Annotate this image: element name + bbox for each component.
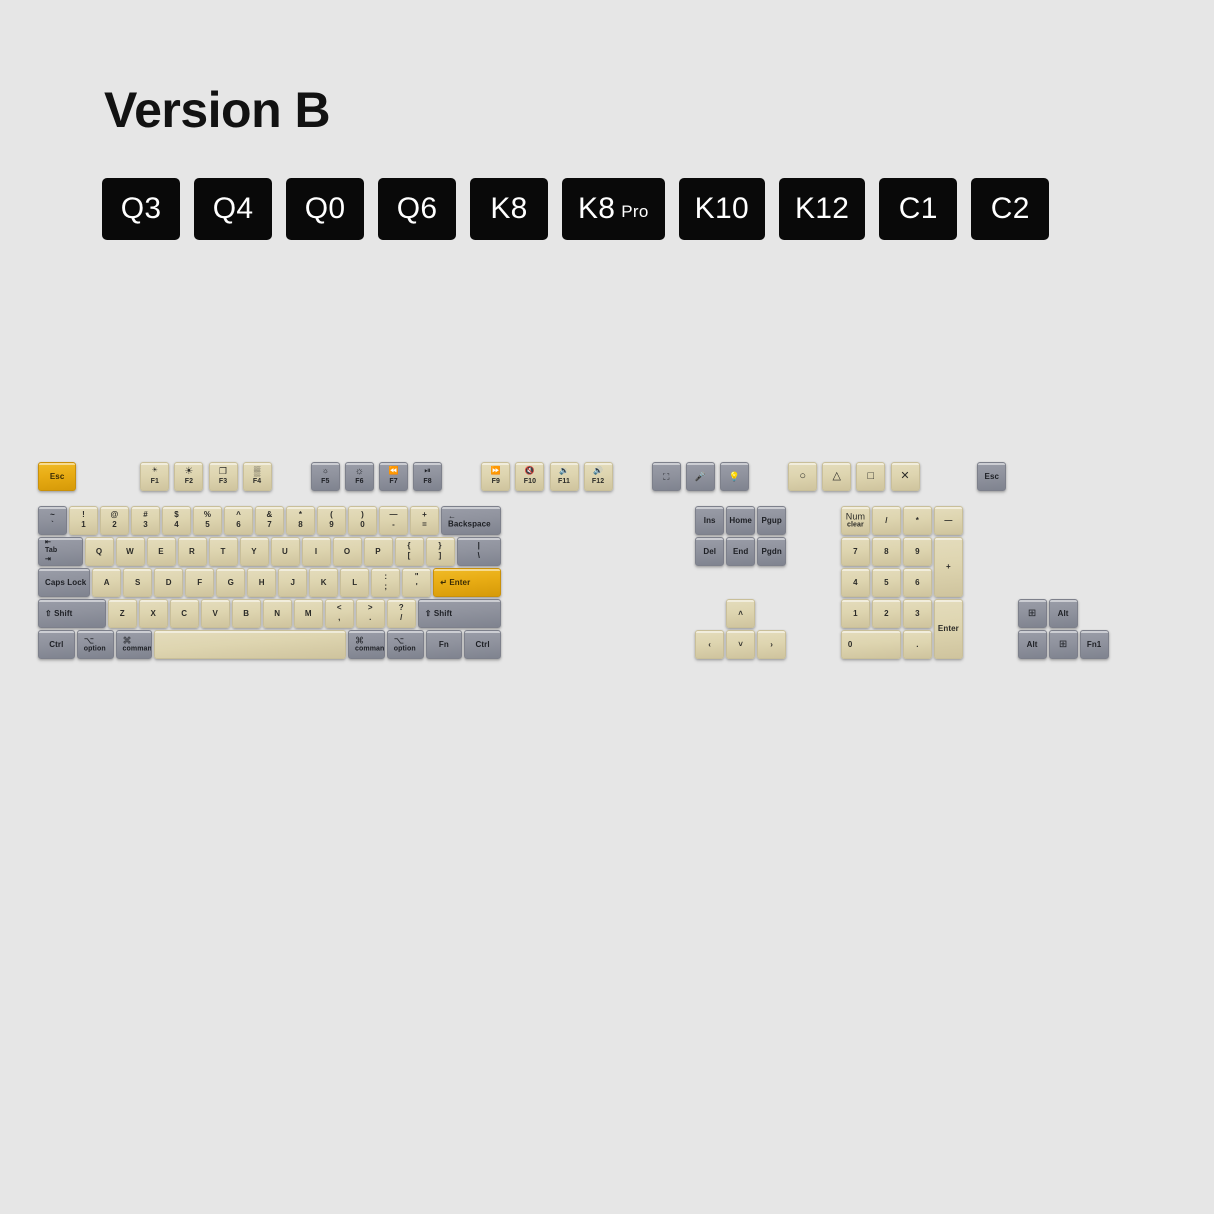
keycap-numpad-3-legend: 3 (904, 609, 931, 617)
keycap-end-legend: End (727, 547, 754, 555)
keycap-numpad-9-legend: 9 (904, 547, 931, 555)
keycap-numpad-enter-legend: Enter (935, 625, 962, 633)
keycap-equal[interactable]: += (410, 506, 439, 535)
keycap-win-right-bottom[interactable]: ⊞ (1049, 630, 1078, 659)
keycap-key-e-legend: E (148, 547, 175, 555)
keycap-f8-legend-fkey: F8 (414, 478, 441, 485)
keycap-tab[interactable]: ⇤Tab⇥ (38, 537, 83, 566)
keycap-key-g[interactable]: G (216, 568, 245, 597)
keycap-command-right-legend: ⌘command (349, 636, 384, 653)
keycap-key-v[interactable]: V (201, 599, 230, 628)
keycap-f1[interactable]: ☀F1 (140, 462, 169, 491)
keycap-digit-5-legend-base: 5 (194, 521, 221, 529)
keycap-key-x[interactable]: X (139, 599, 168, 628)
keycap-enter[interactable]: ↵ Enter (433, 568, 501, 597)
keycap-tab-legend: ⇤Tab⇥ (39, 538, 82, 564)
keycap-key-q-legend: Q (86, 547, 113, 555)
keycap-key-m[interactable]: M (294, 599, 323, 628)
keycap-slash[interactable]: ?/ (387, 599, 416, 628)
keycap-bracket-left-legend-base: [ (396, 552, 423, 560)
keycap-key-n[interactable]: N (263, 599, 292, 628)
keycap-comma-legend-base: , (326, 614, 353, 622)
keycap-key-t-legend: T (210, 547, 237, 555)
keycap-digit-4-legend-base: 4 (163, 521, 190, 529)
keycap-backslash-legend-base: \ (458, 552, 501, 560)
keycap-digit-8[interactable]: *8 (286, 506, 315, 535)
keycap-arrow-down-legend: ˅ (727, 640, 754, 648)
keycap-set-layout: Esc☀F1☀F2❐F3▒F4☼F5☼F6⏪F7⏯F8⏩F9🔇F10🔉F11🔊F… (0, 0, 1214, 1214)
keycap-digit-3-legend-base: 3 (132, 521, 159, 529)
keycap-key-o-legend: O (334, 547, 361, 555)
keycap-key-w[interactable]: W (116, 537, 145, 566)
keycap-arrow-down[interactable]: ˅ (726, 630, 755, 659)
keycap-ctrl-right-legend: Ctrl (465, 640, 500, 648)
keycap-f4-legend-fkey: F4 (244, 478, 271, 485)
keycap-f12-legend-fkey: F12 (585, 478, 612, 485)
keycap-f8-legend-icon: ⏯ (414, 467, 441, 475)
keycap-digit-4[interactable]: $4 (162, 506, 191, 535)
keycap-num-clear[interactable]: Numclear (841, 506, 870, 535)
keycap-numpad-9[interactable]: 9 (903, 537, 932, 566)
keycap-f7-legend-fkey: F7 (380, 478, 407, 485)
keycap-circle[interactable]: ○ (788, 462, 817, 491)
keycap-key-y[interactable]: Y (240, 537, 269, 566)
keycap-command-left-legend-line2: command (123, 646, 152, 653)
keycap-f9-legend-fkey: F9 (482, 478, 509, 485)
keycap-num-clear-legend-line1: Num (842, 512, 869, 521)
keycap-space[interactable] (154, 630, 346, 659)
keycap-fn1[interactable]: Fn1 (1080, 630, 1109, 659)
keycap-arrow-up-legend: ˄ (727, 609, 754, 617)
keycap-key-q[interactable]: Q (85, 537, 114, 566)
keycap-key-h[interactable]: H (247, 568, 276, 597)
keycap-key-y-legend: Y (241, 547, 268, 555)
keycap-insert[interactable]: Ins (695, 506, 724, 535)
keycap-win-left-top-legend-icon: ⊞ (1019, 608, 1046, 619)
keycap-arrow-right-legend: › (758, 640, 785, 648)
keycap-key-i-legend: I (303, 547, 330, 555)
keycap-arrow-right[interactable]: › (757, 630, 786, 659)
keycap-key-r-legend: R (179, 547, 206, 555)
keycap-digit-0-legend-shifted: ) (349, 511, 376, 519)
keycap-f1-legend-fkey: F1 (141, 478, 168, 485)
keycap-f6-legend-fkey: F6 (346, 478, 373, 485)
keycap-pagedown-legend: Pgdn (758, 547, 785, 555)
keycap-digit-7-legend-shifted: & (256, 511, 283, 519)
keycap-numpad-7-legend: 7 (842, 547, 869, 555)
keycap-key-j-legend: J (279, 578, 306, 586)
keycap-enter-legend: ↵ Enter (434, 578, 500, 586)
keycap-digit-0[interactable]: )0 (348, 506, 377, 535)
keycap-key-z[interactable]: Z (108, 599, 137, 628)
keycap-f12[interactable]: 🔊F12 (584, 462, 613, 491)
keycap-numpad-8[interactable]: 8 (872, 537, 901, 566)
keycap-key-w-legend: W (117, 547, 144, 555)
keycap-digit-9-legend-shifted: ( (318, 511, 345, 519)
keycap-comma-legend-shifted: < (326, 604, 353, 612)
keycap-f11[interactable]: 🔉F11 (550, 462, 579, 491)
keycap-digit-6[interactable]: ^6 (224, 506, 253, 535)
keycap-digit-6-legend-base: 6 (225, 521, 252, 529)
keycap-f2-legend-fkey: F2 (175, 478, 202, 485)
keycap-command-right[interactable]: ⌘command (348, 630, 385, 659)
keycap-key-e[interactable]: E (147, 537, 176, 566)
keycap-key-l-legend: L (341, 578, 368, 586)
keycap-backspace[interactable]: ← Backspace (441, 506, 501, 535)
keycap-key-p[interactable]: P (364, 537, 393, 566)
keycap-minus-legend-shifted: — (380, 511, 407, 519)
keycap-digit-9-legend-base: 9 (318, 521, 345, 529)
keycap-f10[interactable]: 🔇F10 (515, 462, 544, 491)
keycap-option-right-legend: ⌥option (388, 636, 423, 653)
keycap-end[interactable]: End (726, 537, 755, 566)
keycap-digit-5-legend-shifted: % (194, 511, 221, 519)
keycap-bracket-right-legend-base: ] (427, 552, 454, 560)
keycap-equal-legend-shifted: + (411, 511, 438, 519)
keycap-f3-legend-icon: ❐ (210, 467, 237, 476)
keycap-f3[interactable]: ❐F3 (209, 462, 238, 491)
keycap-digit-7[interactable]: &7 (255, 506, 284, 535)
keycap-bracket-right-legend-shifted: } (427, 542, 454, 550)
keycap-esc-gray-legend: Esc (978, 472, 1005, 480)
keycap-f11-legend-icon: 🔉 (551, 467, 578, 475)
keycap-shift-left-legend: ⇧ Shift (39, 609, 105, 617)
keycap-numpad-2-legend: 2 (873, 609, 900, 617)
keycap-backlight[interactable]: 💡 (720, 462, 749, 491)
keycap-f12-legend-icon: 🔊 (585, 467, 612, 475)
keycap-ctrl-left-legend: Ctrl (39, 640, 74, 648)
keycap-key-j[interactable]: J (278, 568, 307, 597)
keycap-screenshot-legend-icon: ⛶ (653, 472, 680, 481)
keycap-f11-legend-fkey: F11 (551, 478, 578, 485)
keycap-arrow-left-legend: ‹ (696, 640, 723, 648)
keycap-semicolon[interactable]: :; (371, 568, 400, 597)
keycap-digit-1-legend-base: 1 (70, 521, 97, 529)
keycap-command-right-legend-line1: ⌘ (355, 636, 384, 645)
keycap-win-right-bottom-legend-icon: ⊞ (1050, 639, 1077, 650)
keycap-shift-right-legend: ⇧ Shift (419, 609, 500, 617)
keycap-option-right[interactable]: ⌥option (387, 630, 424, 659)
keycap-key-g-legend: G (217, 578, 244, 586)
keycap-triangle[interactable]: △ (822, 462, 851, 491)
keycap-key-v-legend: V (202, 609, 229, 617)
keycap-tab-legend-line3: ⇥ (45, 556, 82, 565)
keycap-digit-3[interactable]: #3 (131, 506, 160, 535)
keycap-period[interactable]: >. (356, 599, 385, 628)
keycap-key-c[interactable]: C (170, 599, 199, 628)
keycap-arrow-left[interactable]: ‹ (695, 630, 724, 659)
keycap-digit-1[interactable]: !1 (69, 506, 98, 535)
keycap-f4-legend-icon: ▒ (244, 467, 271, 476)
keycap-grave-legend-base: ` (39, 521, 66, 529)
keycap-numpad-divide-legend: / (873, 516, 900, 524)
keycap-key-t[interactable]: T (209, 537, 238, 566)
keycap-numpad-7[interactable]: 7 (841, 537, 870, 566)
keycap-tab-legend-line1: ⇤ (45, 538, 82, 547)
keycap-f9-legend-icon: ⏩ (482, 467, 509, 475)
keycap-semicolon-legend-base: ; (372, 583, 399, 591)
keycap-backlight-legend-icon: 💡 (721, 472, 748, 481)
keycap-numpad-5[interactable]: 5 (872, 568, 901, 597)
keycap-square[interactable]: □ (856, 462, 885, 491)
keycap-bracket-right[interactable]: }] (426, 537, 455, 566)
keycap-cross-legend-icon: ✕ (892, 471, 919, 483)
keycap-backspace-legend: ← Backspace (442, 512, 500, 529)
keycap-cross[interactable]: ✕ (891, 462, 920, 491)
keycap-key-l[interactable]: L (340, 568, 369, 597)
keycap-numpad-multiply[interactable]: * (903, 506, 932, 535)
keycap-numpad-6[interactable]: 6 (903, 568, 932, 597)
keycap-digit-7-legend-base: 7 (256, 521, 283, 529)
keycap-numpad-multiply-legend: * (904, 516, 931, 524)
keycap-grave[interactable]: ~` (38, 506, 67, 535)
keycap-numpad-period[interactable]: . (903, 630, 932, 659)
keycap-pageup[interactable]: Pgup (757, 506, 786, 535)
keycap-key-b[interactable]: B (232, 599, 261, 628)
keycap-f7[interactable]: ⏪F7 (379, 462, 408, 491)
keycap-circle-legend-icon: ○ (789, 471, 816, 483)
keycap-bracket-left[interactable]: {[ (395, 537, 424, 566)
keycap-slash-legend-base: / (388, 614, 415, 622)
keycap-delete-legend: Del (696, 547, 723, 555)
keycap-f10-legend-fkey: F10 (516, 478, 543, 485)
keycap-esc[interactable]: Esc (38, 462, 76, 491)
keycap-digit-9[interactable]: (9 (317, 506, 346, 535)
keycap-alt-right-top-legend: Alt (1050, 609, 1077, 617)
keycap-key-b-legend: B (233, 609, 260, 617)
keycap-key-a-legend: A (93, 578, 120, 586)
keycap-square-legend-icon: □ (857, 471, 884, 483)
keycap-key-a[interactable]: A (92, 568, 121, 597)
keycap-numpad-8-legend: 8 (873, 547, 900, 555)
keycap-key-f-legend: F (186, 578, 213, 586)
keycap-pagedown[interactable]: Pgdn (757, 537, 786, 566)
keycap-option-left-legend: ⌥option (78, 636, 113, 653)
keycap-digit-0-legend-base: 0 (349, 521, 376, 529)
keycap-alt-left-bottom[interactable]: Alt (1018, 630, 1047, 659)
keycap-f6[interactable]: ☼F6 (345, 462, 374, 491)
keycap-f8[interactable]: ⏯F8 (413, 462, 442, 491)
keycap-slash-legend-shifted: ? (388, 604, 415, 612)
keycap-f2[interactable]: ☀F2 (174, 462, 203, 491)
keycap-numpad-enter[interactable]: Enter (934, 599, 963, 659)
keycap-numpad-1[interactable]: 1 (841, 599, 870, 628)
keycap-quote[interactable]: "' (402, 568, 431, 597)
keycap-num-clear-legend-line2: clear (842, 522, 869, 529)
keycap-numpad-0-legend: 0 (842, 640, 900, 648)
keycap-key-d-legend: D (155, 578, 182, 586)
keycap-digit-2[interactable]: @2 (100, 506, 129, 535)
keycap-f6-legend-icon: ☼ (346, 467, 373, 478)
keycap-key-n-legend: N (264, 609, 291, 617)
keycap-arrow-up[interactable]: ˄ (726, 599, 755, 628)
keycap-f3-legend-fkey: F3 (210, 478, 237, 485)
keycap-key-r[interactable]: R (178, 537, 207, 566)
keycap-insert-legend: Ins (696, 516, 723, 524)
keycap-f1-legend-icon: ☀ (141, 467, 168, 474)
keycap-f7-legend-icon: ⏪ (380, 467, 407, 475)
keycap-digit-2-legend-base: 2 (101, 521, 128, 529)
keycap-digit-8-legend-shifted: * (287, 511, 314, 519)
keycap-digit-1-legend-shifted: ! (70, 511, 97, 519)
keycap-digit-4-legend-shifted: $ (163, 511, 190, 519)
keycap-caps-lock-legend: Caps Lock (39, 578, 89, 586)
keycap-equal-legend-base: = (411, 521, 438, 529)
keycap-delete[interactable]: Del (695, 537, 724, 566)
keycap-numpad-4-legend: 4 (842, 578, 869, 586)
keycap-digit-8-legend-base: 8 (287, 521, 314, 529)
keycap-esc-legend: Esc (39, 472, 75, 480)
keycap-home[interactable]: Home (726, 506, 755, 535)
keycap-microphone-legend-icon: 🎤 (687, 472, 714, 481)
keycap-numpad-plus-legend: + (935, 563, 962, 571)
keycap-tab-legend-line2: Tab (45, 547, 82, 556)
keycap-digit-5[interactable]: %5 (193, 506, 222, 535)
keycap-win-left-top[interactable]: ⊞ (1018, 599, 1047, 628)
keycap-option-right-legend-line2: option (394, 646, 423, 653)
keycap-minus[interactable]: —- (379, 506, 408, 535)
keycap-period-legend-base: . (357, 614, 384, 622)
keycap-pageup-legend: Pgup (758, 516, 785, 524)
keycap-command-left[interactable]: ⌘command (116, 630, 153, 659)
keycap-shift-right[interactable]: ⇧ Shift (418, 599, 501, 628)
keycap-fn-legend: Fn (427, 640, 462, 648)
keycap-shift-left[interactable]: ⇧ Shift (38, 599, 106, 628)
keycap-key-x-legend: X (140, 609, 167, 617)
keycap-digit-2-legend-shifted: @ (101, 511, 128, 519)
keycap-f4[interactable]: ▒F4 (243, 462, 272, 491)
keycap-f5-legend-icon: ☼ (312, 467, 339, 475)
keycap-numpad-plus[interactable]: + (934, 537, 963, 597)
keycap-alt-right-top[interactable]: Alt (1049, 599, 1078, 628)
keycap-period-legend-shifted: > (357, 604, 384, 612)
keycap-f5[interactable]: ☼F5 (311, 462, 340, 491)
keycap-semicolon-legend-shifted: : (372, 573, 399, 581)
keycap-alt-left-bottom-legend: Alt (1019, 640, 1046, 648)
keycap-home-legend: Home (727, 516, 754, 524)
keycap-quote-legend-shifted: " (403, 573, 430, 581)
keycap-screenshot[interactable]: ⛶ (652, 462, 681, 491)
keycap-ctrl-right[interactable]: Ctrl (464, 630, 501, 659)
keycap-key-f[interactable]: F (185, 568, 214, 597)
keycap-key-i[interactable]: I (302, 537, 331, 566)
keycap-command-left-legend-line1: ⌘ (123, 636, 152, 645)
keycap-ctrl-left[interactable]: Ctrl (38, 630, 75, 659)
keycap-command-right-legend-line2: command (355, 646, 384, 653)
keycap-f10-legend-icon: 🔇 (516, 467, 543, 475)
keycap-option-left[interactable]: ⌥option (77, 630, 114, 659)
keycap-triangle-legend-icon: △ (823, 471, 850, 483)
keycap-key-k-legend: K (310, 578, 337, 586)
keycap-key-c-legend: C (171, 609, 198, 617)
keycap-key-z-legend: Z (109, 609, 136, 617)
keycap-backslash[interactable]: |\ (457, 537, 502, 566)
keycap-key-u[interactable]: U (271, 537, 300, 566)
keycap-quote-legend-base: ' (403, 583, 430, 591)
keycap-f5-legend-fkey: F5 (312, 478, 339, 485)
keycap-num-clear-legend: Numclear (842, 512, 869, 529)
keycap-option-left-legend-line2: option (84, 646, 113, 653)
keycap-caps-lock[interactable]: Caps Lock (38, 568, 90, 597)
keycap-numpad-1-legend: 1 (842, 609, 869, 617)
keycap-backslash-legend-shifted: | (458, 542, 501, 550)
keycap-key-s[interactable]: S (123, 568, 152, 597)
keycap-option-right-legend-line1: ⌥ (394, 636, 423, 645)
keycap-numpad-0[interactable]: 0 (841, 630, 901, 659)
keycap-numpad-2[interactable]: 2 (872, 599, 901, 628)
keycap-key-d[interactable]: D (154, 568, 183, 597)
keycap-grave-legend-shifted: ~ (39, 511, 66, 519)
keycap-numpad-period-legend: . (904, 640, 931, 648)
keycap-numpad-4[interactable]: 4 (841, 568, 870, 597)
keycap-key-k[interactable]: K (309, 568, 338, 597)
keycap-key-u-legend: U (272, 547, 299, 555)
keycap-digit-6-legend-shifted: ^ (225, 511, 252, 519)
keycap-comma[interactable]: <, (325, 599, 354, 628)
keycap-command-left-legend: ⌘command (117, 636, 152, 653)
keycap-microphone[interactable]: 🎤 (686, 462, 715, 491)
keycap-bracket-left-legend-shifted: { (396, 542, 423, 550)
keycap-digit-3-legend-shifted: # (132, 511, 159, 519)
keycap-numpad-3[interactable]: 3 (903, 599, 932, 628)
keycap-key-p-legend: P (365, 547, 392, 555)
keycap-fn[interactable]: Fn (426, 630, 463, 659)
keycap-numpad-6-legend: 6 (904, 578, 931, 586)
keycap-key-s-legend: S (124, 578, 151, 586)
keycap-numpad-minus-legend: — (935, 516, 962, 524)
keycap-key-h-legend: H (248, 578, 275, 586)
keycap-numpad-divide[interactable]: / (872, 506, 901, 535)
keycap-numpad-5-legend: 5 (873, 578, 900, 586)
keycap-esc-gray[interactable]: Esc (977, 462, 1006, 491)
keycap-f2-legend-icon: ☀ (175, 467, 202, 478)
keycap-f9[interactable]: ⏩F9 (481, 462, 510, 491)
keycap-minus-legend-base: - (380, 521, 407, 529)
keycap-key-o[interactable]: O (333, 537, 362, 566)
keycap-option-left-legend-line1: ⌥ (84, 636, 113, 645)
keycap-fn1-legend: Fn1 (1081, 640, 1108, 648)
keycap-key-m-legend: M (295, 609, 322, 617)
keycap-numpad-minus[interactable]: — (934, 506, 963, 535)
